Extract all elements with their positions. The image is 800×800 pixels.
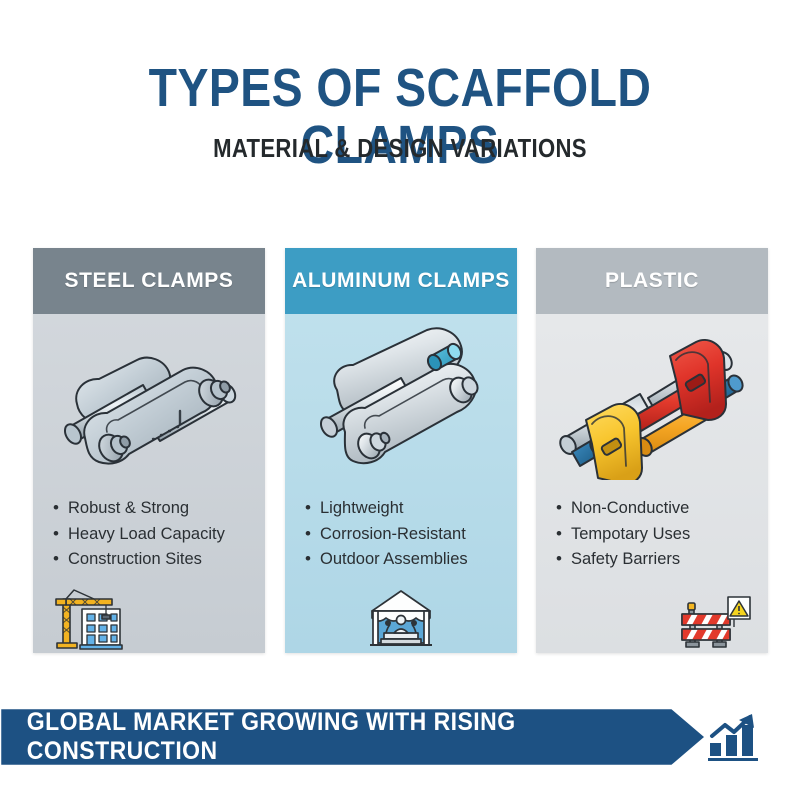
list-item: Lightweight <box>305 496 505 522</box>
card-steel-body: Robust & Strong Heavy Load Capacity Cons… <box>33 314 265 653</box>
card-aluminum-bullets: Lightweight Corrosion-Resistant Outdoor … <box>305 496 505 573</box>
card-aluminum-heading: ALUMINUM CLAMPS <box>285 248 517 314</box>
card-aluminum-clamps[interactable]: ALUMINUM CLAMPS <box>285 248 517 653</box>
list-item: Outdoor Assemblies <box>305 547 505 573</box>
steel-clamp-illustration <box>33 320 265 480</box>
card-steel-header: STEEL CLAMPS <box>33 248 265 314</box>
list-item: Construction Sites <box>53 547 253 573</box>
card-plastic-clamps[interactable]: PLASTIC <box>536 248 768 653</box>
bottom-banner: GLOBAL MARKET GROWING WITH RISING CONSTR… <box>0 708 800 766</box>
infographic-canvas: TYPES OF SCAFFOLD CLAMPS MATERIAL & DESI… <box>0 0 800 800</box>
list-item: Non-Conductive <box>556 496 756 522</box>
card-aluminum-body: Lightweight Corrosion-Resistant Outdoor … <box>285 314 517 653</box>
page-subtitle: MATERIAL & DESIGN VARIATIONS <box>60 133 740 164</box>
list-item: Safety Barriers <box>556 547 756 573</box>
list-item: Corrosion-Resistant <box>305 522 505 548</box>
card-steel-bullets: Robust & Strong Heavy Load Capacity Cons… <box>53 496 253 573</box>
event-stage-tent-icon <box>362 587 440 651</box>
card-plastic-heading: PLASTIC <box>536 248 768 314</box>
growth-bar-chart-icon <box>706 712 762 762</box>
card-steel-clamps[interactable]: STEEL CLAMPS <box>33 248 265 653</box>
card-steel-heading: STEEL CLAMPS <box>33 248 265 314</box>
list-item: Robust & Strong <box>53 496 253 522</box>
card-aluminum-header: ALUMINUM CLAMPS <box>285 248 517 314</box>
card-plastic-header: PLASTIC <box>536 248 768 314</box>
card-plastic-bullets: Non-Conductive Tempotary Uses Safety Bar… <box>556 496 756 573</box>
crane-building-icon <box>48 587 126 651</box>
aluminum-clamp-illustration <box>285 320 517 480</box>
road-barrier-warning-icon <box>676 587 754 651</box>
plastic-clamp-illustration <box>536 320 768 480</box>
list-item: Tempotary Uses <box>556 522 756 548</box>
card-plastic-body: Non-Conductive Tempotary Uses Safety Bar… <box>536 314 768 653</box>
list-item: Heavy Load Capacity <box>53 522 253 548</box>
banner-text: GLOBAL MARKET GROWING WITH RISING CONSTR… <box>27 708 643 766</box>
